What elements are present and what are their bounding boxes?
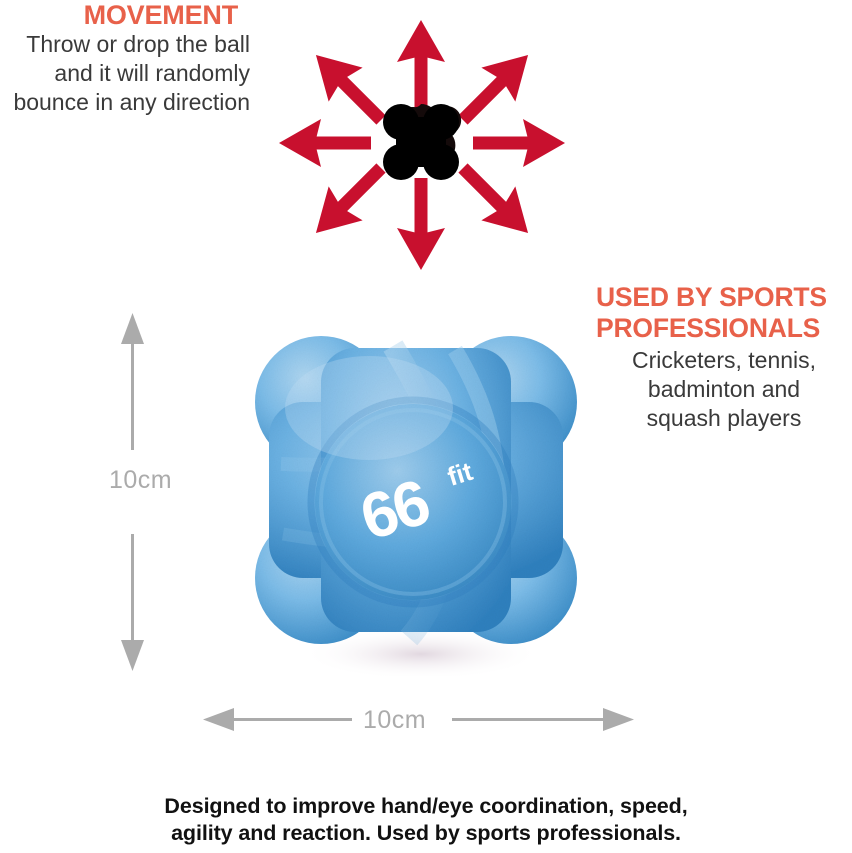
arrow-up-right-icon <box>446 38 545 137</box>
arrow-down-icon <box>397 178 445 270</box>
sports-professionals-heading: USED BY SPORTS PROFESSIONALS <box>596 282 852 344</box>
dimension-label-height: 10cm <box>103 464 178 497</box>
reaction-ball-silhouette-icon <box>379 99 475 180</box>
infographic-page: MOVEMENT Throw or drop the ball and it w… <box>0 0 852 853</box>
dimension-label-width: 10cm <box>357 704 432 737</box>
feature-block-movement: MOVEMENT Throw or drop the ball and it w… <box>0 0 250 117</box>
reaction-ball-product-photo: 66 fit <box>243 316 599 676</box>
movement-body-text: Throw or drop the ball and it will rando… <box>0 30 250 117</box>
footer-caption: Designed to improve hand/eye coordinatio… <box>0 793 852 847</box>
arrow-up-left-icon <box>299 38 398 137</box>
arrow-up-icon <box>397 20 445 112</box>
arrow-right-icon <box>473 119 565 167</box>
arrow-left-icon <box>279 119 371 167</box>
feature-block-sports-professionals: USED BY SPORTS PROFESSIONALS Cricketers,… <box>596 282 852 433</box>
arrow-down-right-icon <box>446 151 545 250</box>
movement-heading: MOVEMENT <box>0 0 250 30</box>
arrow-down-left-icon <box>299 151 398 250</box>
sports-professionals-body-text: Cricketers, tennis, badminton and squash… <box>596 344 852 433</box>
